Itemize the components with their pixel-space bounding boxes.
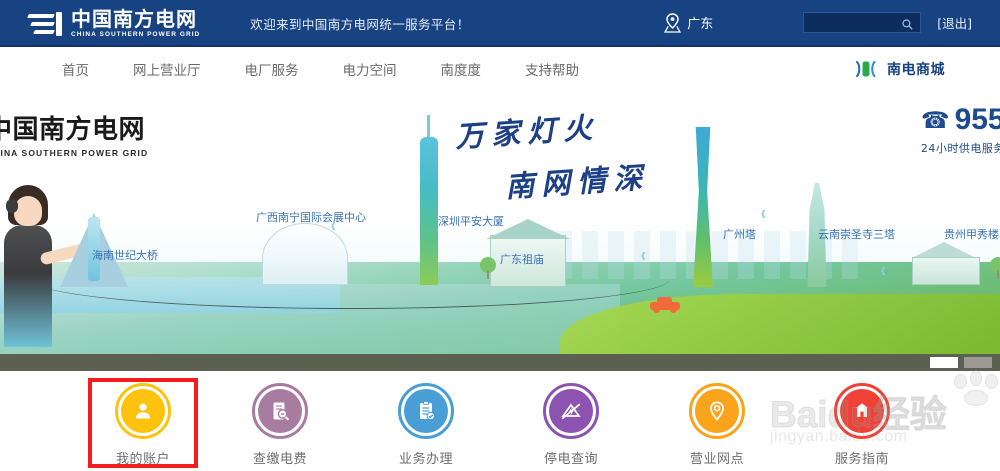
banner-slogan: 万家灯火 南网情深 [455,109,649,201]
nav-item-power-space[interactable]: 电力空间 [343,59,397,79]
bird-decoration: ❰ [330,221,337,230]
quick-link-label: 停电查询 [523,448,619,467]
landmark-label-guizhou-jiaxiu: 贵州甲秀楼 [944,226,999,242]
quick-link-outage[interactable]: 停电查询 [523,371,619,467]
quick-link-label: 服务指南 [814,448,910,467]
brand-name-cn: 中国南方电网 [71,9,200,29]
quick-links-row: 我的账户 查缴电费 [0,371,1000,471]
hotline-number: 95598 [955,105,1000,135]
search-icon[interactable] [902,17,913,28]
hotline-subtitle: 24小时供电服务热线 [921,140,1000,156]
location-label: 广东 [687,13,713,32]
top-bar: 中国南方电网 CHINA SOUTHERN POWER GRID 欢迎来到中国南… [0,0,1000,47]
banner-logo-cn: 中国南方电网 [0,109,148,146]
slogan-line-2: 南网情深 [504,154,651,206]
quick-link-label: 营业网点 [669,448,765,467]
location-selector[interactable]: 广东 [664,13,713,33]
nav-item-home[interactable]: 首页 [62,59,89,79]
tree-decoration [990,257,1000,279]
quick-link-pay-bill[interactable]: 查缴电费 [232,371,328,467]
brand-name-en: CHINA SOUTHERN POWER GRID [71,32,200,39]
mall-logo-icon [854,58,878,80]
logout-link[interactable]: [退出] [937,13,972,32]
banner-control-strip [0,354,1000,371]
nav-item-online-hall[interactable]: 网上营业厅 [133,59,201,79]
main-navigation: 首页 网上营业厅 电厂服务 电力空间 南度度 支持帮助 南电商城 [0,47,1000,91]
carousel-indicators [930,357,992,368]
csg-logo-icon [28,11,62,37]
nav-item-nandudu[interactable]: 南度度 [441,59,482,79]
site-brand: 中国南方电网 CHINA SOUTHERN POWER GRID [28,9,200,39]
power-outage-icon [543,383,599,439]
search-box[interactable] [803,12,921,33]
carousel-dot-1[interactable] [930,357,958,368]
landmark-label-nanning-convention: 广西南宁国际会展中心 [256,209,366,225]
search-input[interactable] [804,13,896,32]
service-guide-icon [834,383,890,439]
landmark-label-yunnan-pagodas: 云南崇圣寺三塔 [818,226,895,242]
bill-search-icon [252,383,308,439]
page-root: 中国南方电网 CHINA SOUTHERN POWER GRID 欢迎来到中国南… [0,0,1000,471]
quick-link-label: 业务办理 [378,448,474,467]
location-pin-icon [664,13,681,33]
quick-link-label: 查缴电费 [232,448,328,467]
nav-item-plant-service[interactable]: 电厂服务 [245,59,299,79]
nav-item-support[interactable]: 支持帮助 [525,59,579,79]
user-account-icon [115,383,171,439]
carousel-dot-2[interactable] [964,357,992,368]
nav-item-list: 首页 网上营业厅 电厂服务 电力空间 南度度 支持帮助 [62,59,623,79]
car-decoration [650,298,680,313]
landmark-label-hainan-bridge: 海南世纪大桥 [92,247,158,263]
landmark-label-guangdong-zumiao: 广东祖庙 [500,251,544,267]
quick-link-business[interactable]: 业务办理 [378,371,474,467]
map-marker-icon [689,383,745,439]
bird-decoration: ❰ [880,266,887,275]
bird-decoration: ❰ [640,251,647,260]
mall-label: 南电商城 [887,59,945,79]
tree-decoration [480,257,496,279]
banner-logo: 中国南方电网 CHINA SOUTHERN POWER GRID [0,109,148,158]
quick-link-service-guide[interactable]: 服务指南 [814,371,910,467]
customer-rep-illustration [0,185,64,345]
mall-link[interactable]: 南电商城 [854,58,945,80]
quick-link-label: 我的账户 [95,448,191,467]
welcome-message: 欢迎来到中国南方电网统一服务平台！ [250,14,469,33]
clipboard-check-icon [398,383,454,439]
telephone-icon: ☎ [921,109,950,132]
landmark-nanning-convention [262,223,348,285]
quick-link-branch[interactable]: 营业网点 [669,371,765,467]
banner-logo-en: CHINA SOUTHERN POWER GRID [0,148,148,158]
bird-decoration: ❰ [760,209,767,218]
service-hotline: ☎ 95598 24小时供电服务热线 [921,105,1000,156]
landmark-label-canton-tower: 广州塔 [723,226,756,242]
top-bar-right: 广东 [退出] [664,0,1000,45]
slogan-line-1: 万家灯火 [454,104,601,156]
quick-link-my-account[interactable]: 我的账户 [95,371,191,467]
hero-banner[interactable]: 中国南方电网 CHINA SOUTHERN POWER GRID 万家灯火 南网… [0,91,1000,371]
landmark-shenzhen-pingan [420,137,438,285]
